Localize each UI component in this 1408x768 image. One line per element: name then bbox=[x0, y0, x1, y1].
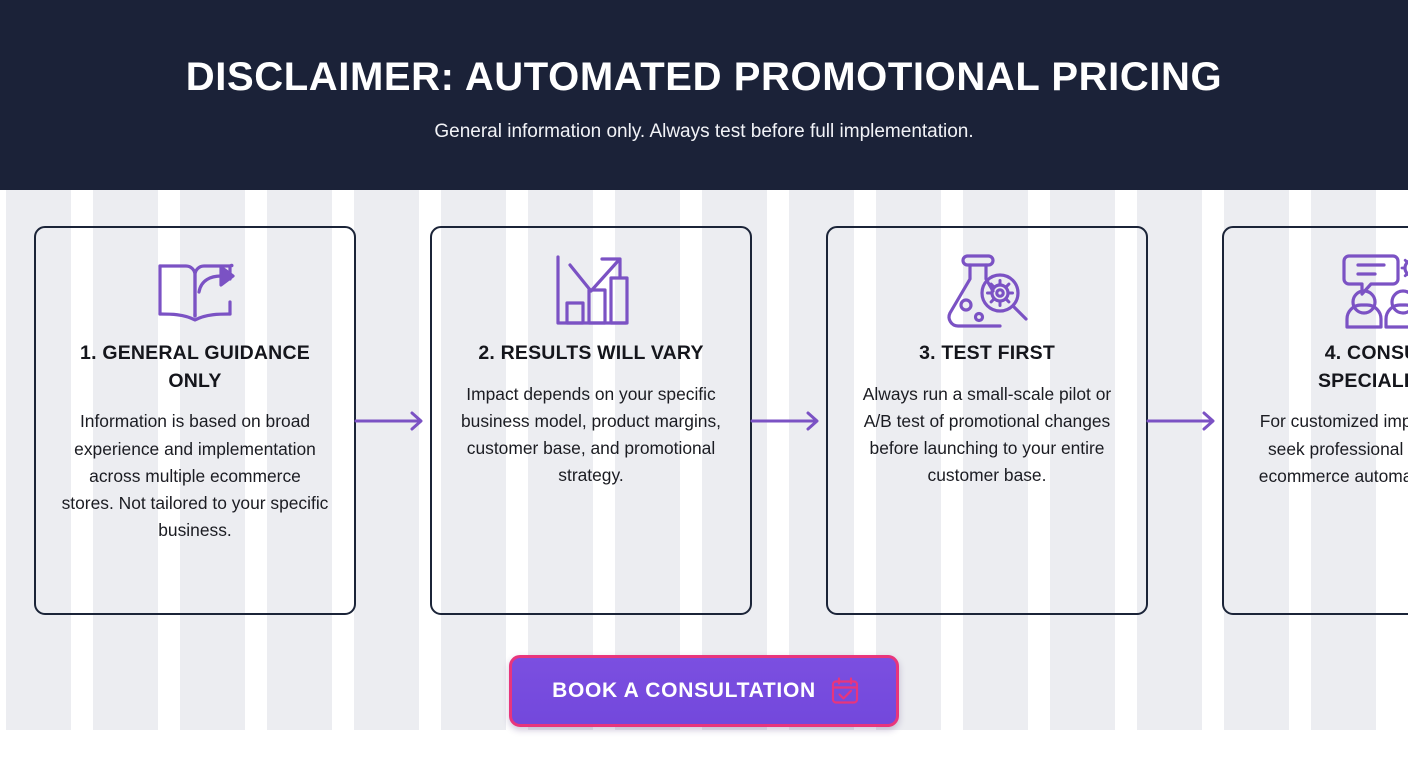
cta-container: BOOK A CONSULTATION bbox=[0, 655, 1408, 727]
card-body: Information is based on broad experience… bbox=[61, 408, 329, 544]
consult-people-gear-icon bbox=[1337, 250, 1408, 332]
card-body: Always run a small-scale pilot or A/B te… bbox=[853, 381, 1121, 490]
card-general-guidance[interactable]: 1. GENERAL GUIDANCE ONLY Information is … bbox=[34, 226, 356, 615]
arrow-right-icon bbox=[1148, 410, 1222, 432]
arrow-right-icon bbox=[752, 410, 826, 432]
book-consultation-label: BOOK A CONSULTATION bbox=[552, 679, 816, 703]
page-header: DISCLAIMER: AUTOMATED PROMOTIONAL PRICIN… bbox=[0, 0, 1408, 190]
flask-magnifier-gear-icon bbox=[941, 250, 1033, 332]
arrow-right-icon bbox=[356, 410, 430, 432]
arrow-1-to-2 bbox=[356, 226, 430, 616]
page-subtitle: General information only. Always test be… bbox=[434, 121, 973, 143]
page-title: DISCLAIMER: AUTOMATED PROMOTIONAL PRICIN… bbox=[186, 55, 1222, 99]
book-consultation-button[interactable]: BOOK A CONSULTATION bbox=[509, 655, 899, 727]
arrow-3-to-4 bbox=[1148, 226, 1222, 616]
arrow-2-to-3 bbox=[752, 226, 826, 616]
card-title: 3. TEST FIRST bbox=[919, 340, 1055, 368]
card-body: Impact depends on your specific business… bbox=[457, 381, 725, 490]
card-body: For customized implementation, seek prof… bbox=[1249, 408, 1408, 489]
bar-chart-growth-icon bbox=[550, 250, 632, 332]
card-title: 4. CONSULT SPECIALISTS bbox=[1258, 340, 1408, 395]
book-share-icon bbox=[153, 250, 237, 332]
card-title: 2. RESULTS WILL VARY bbox=[478, 340, 703, 368]
card-title: 1. GENERAL GUIDANCE ONLY bbox=[70, 340, 320, 395]
calendar-check-icon bbox=[830, 676, 860, 706]
card-results-vary[interactable]: 2. RESULTS WILL VARY Impact depends on y… bbox=[430, 226, 752, 615]
card-consult-specialists[interactable]: 4. CONSULT SPECIALISTS For customized im… bbox=[1222, 226, 1408, 615]
card-test-first[interactable]: 3. TEST FIRST Always run a small-scale p… bbox=[826, 226, 1148, 615]
cards-row: 1. GENERAL GUIDANCE ONLY Information is … bbox=[0, 226, 1408, 616]
